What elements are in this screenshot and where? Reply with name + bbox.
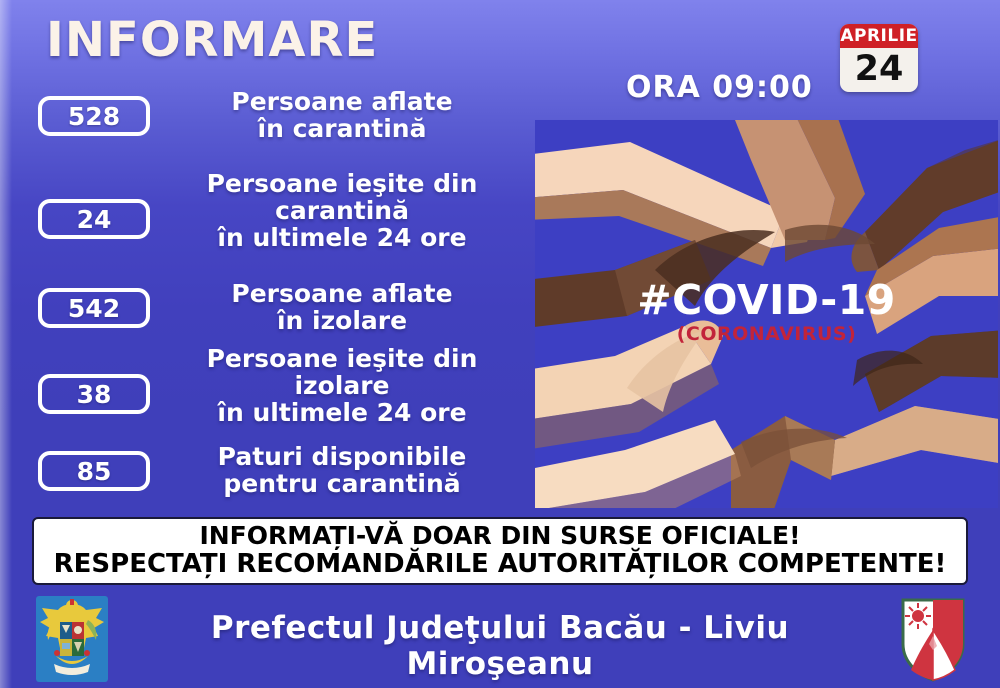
page-title: INFORMARE	[46, 12, 378, 68]
poster: INFORMARE ORA 09:00 APRILIE 24 528 Perso…	[0, 0, 1000, 688]
left-edge-glow	[0, 0, 12, 688]
banner-line-1: INFORMAȚI-VĂ DOAR DIN SURSE OFICIALE!	[199, 522, 800, 550]
stat-label: Paturi disponibile pentru carantină	[170, 443, 514, 497]
stat-label: Persoane ieşite din izolare în ultimele …	[170, 345, 514, 426]
stat-value-badge: 85	[38, 451, 150, 491]
calendar-icon: APRILIE 24	[840, 24, 918, 92]
stat-value-badge: 528	[38, 96, 150, 136]
romania-coat-of-arms-icon	[34, 594, 110, 684]
stat-value-badge: 542	[38, 288, 150, 328]
time-label: ORA 09:00	[626, 70, 813, 105]
footer: Prefectul Judeţului Bacău - Liviu Miroşe…	[0, 592, 1000, 688]
official-sources-banner: INFORMAȚI-VĂ DOAR DIN SURSE OFICIALE! RE…	[32, 517, 968, 585]
bacau-county-coat-of-arms-icon	[895, 594, 971, 684]
circle-of-hands-illustration: #COVID-19 (CORONAVIRUS)	[535, 120, 998, 508]
hands-svg	[535, 120, 998, 508]
stat-label: Persoane ieşite din carantină în ultimel…	[170, 170, 514, 251]
calendar-month-label: APRILIE	[840, 24, 918, 48]
footer-title: Prefectul Judeţului Bacău - Liviu Miroşe…	[120, 610, 880, 682]
stat-value-badge: 24	[38, 199, 150, 239]
stat-label: Persoane aflate în izolare	[170, 280, 514, 334]
calendar-day-label: 24	[840, 48, 918, 92]
stat-value-badge: 38	[38, 374, 150, 414]
stat-label: Persoane aflate în carantină	[170, 88, 514, 142]
banner-line-2: RESPECTAȚI RECOMANDĂRILE AUTORITĂȚILOR C…	[54, 550, 947, 579]
